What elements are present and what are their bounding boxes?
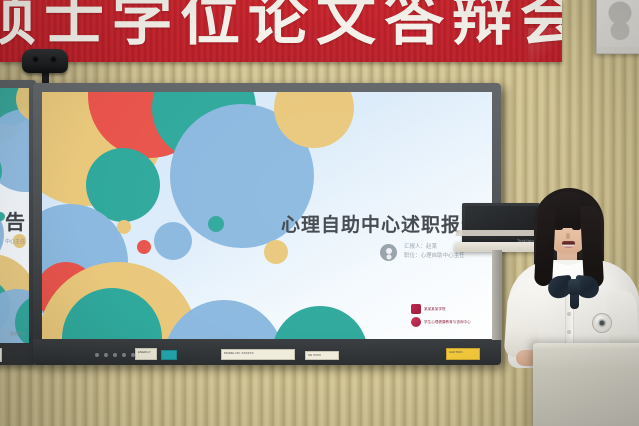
secondary-slide-title: 告 (5, 206, 25, 235)
center-crest-icon (411, 317, 421, 327)
display-sticker-model: MODEL NO. XXXXXX (221, 349, 295, 360)
nose (566, 233, 570, 239)
teal-dot (208, 216, 224, 232)
display-bezel: ENERGY MODEL NO. XXXXXX SN XXXX CAUTION (33, 339, 501, 365)
display-sticker-brand (161, 350, 177, 360)
display-sticker-energy: ENERGY (135, 348, 157, 360)
slide-subtitle-line2: 职位：心理自助中心主任 (404, 252, 465, 261)
logo-center: 学生心理健康教育与咨询中心 (411, 317, 471, 327)
podium (533, 343, 639, 426)
slide-canvas: 心理自助中心述职报告 汇报人：赵某 职位：心理自助中心主任 某某某某学院 学生心… (42, 92, 492, 339)
yellow-dot-left (117, 220, 131, 234)
secondary-display-sticker: ENERGY LABEL (0, 348, 2, 362)
secondary-display-panel: 告 中心主任 咨询中心 (0, 88, 29, 343)
slide-logos: 某某某某学院 学生心理健康教育与咨询中心 (411, 304, 471, 330)
logo-school: 某某某某学院 (411, 304, 471, 314)
secondary-slide-logo: 咨询中心 (10, 331, 26, 337)
source-button-icon[interactable] (113, 353, 117, 357)
red-dot (137, 240, 151, 254)
volume-up-icon[interactable] (122, 353, 126, 357)
blue-small-center (154, 222, 192, 260)
camera-lens-icon (32, 56, 39, 63)
school-emblem-badge (592, 313, 612, 333)
slide-title: 心理自助中心述职报告 (281, 210, 481, 237)
red-banner: 硕士学位论文答辩会 (0, 0, 562, 62)
speaker-lip (597, 47, 639, 53)
power-button-icon[interactable] (95, 353, 99, 357)
logo-school-text: 某某某某学院 (424, 307, 446, 312)
display-sticker-caution: CAUTION (446, 348, 480, 360)
yellow-dot-right (264, 240, 288, 264)
secondary-display: 告 中心主任 咨询中心 ENERGY LABEL (0, 80, 36, 365)
school-crest-icon (411, 304, 421, 314)
speaker-grille-icon (603, 1, 637, 41)
bow-tie (548, 276, 600, 300)
bow-knot (568, 279, 580, 295)
menu-button-icon[interactable] (104, 353, 108, 357)
secondary-slide-subtitle: 中心主任 (5, 238, 25, 246)
ceiling-camera (22, 49, 68, 73)
banner-text: 硕士学位论文答辩会 (0, 0, 562, 50)
bow-tail (570, 293, 579, 309)
main-display[interactable]: 心理自助中心述职报告 汇报人：赵某 职位：心理自助中心主任 某某某某学院 学生心… (33, 83, 501, 365)
teal-bottom-right (272, 306, 368, 339)
display-sticker-serial: SN XXXX (305, 351, 339, 360)
mouth (562, 241, 575, 248)
photo-scene: 硕士学位论文答辩会 告 中心主任 咨询中心 ENERGY LABEL 心理自助中… (0, 0, 639, 426)
shirt-button (567, 330, 571, 334)
camera-lens-icon (50, 56, 57, 63)
presenter-avatar-icon (380, 244, 397, 261)
desk-leg (492, 250, 502, 340)
podium-top (533, 343, 639, 351)
logo-center-text: 学生心理健康教育与咨询中心 (424, 320, 471, 325)
banner-fold-highlight (528, 28, 562, 62)
secondary-blue-large-center (0, 109, 29, 192)
shirt-button (567, 312, 571, 316)
wall-speaker (596, 0, 639, 54)
